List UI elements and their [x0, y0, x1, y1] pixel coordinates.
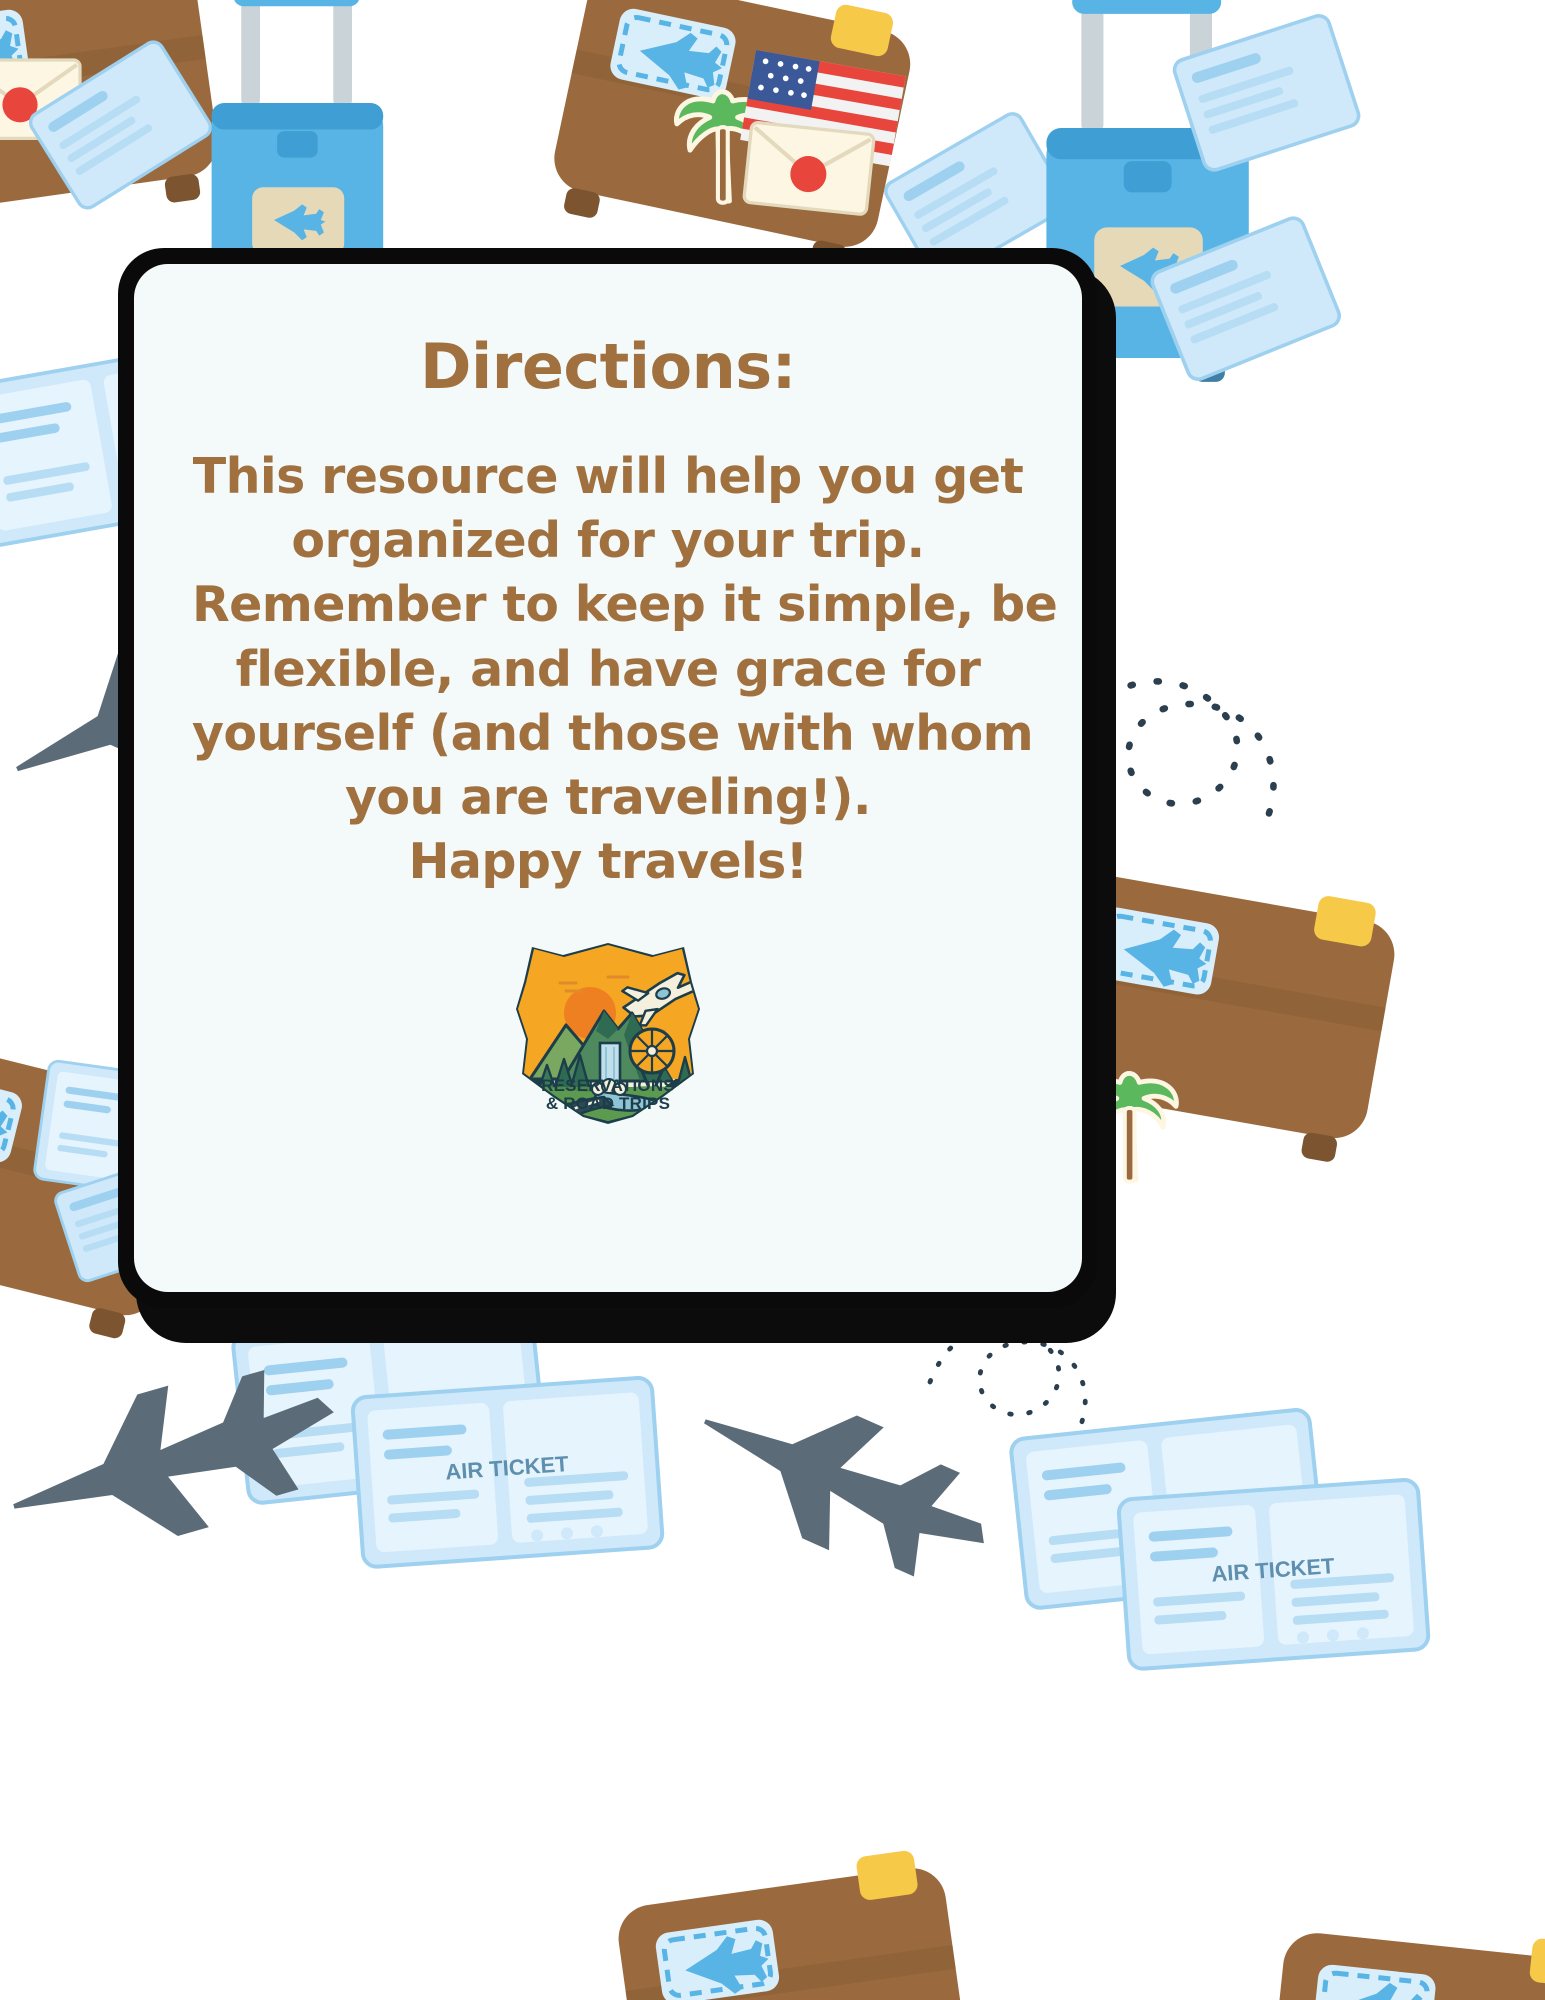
- tablet-screen: Directions: This resource will help you …: [134, 264, 1082, 1292]
- directions-line-2: organized for your trip.: [192, 509, 1024, 573]
- badge-label-line1: RESERVATIONS: [541, 1076, 675, 1095]
- directions-line-1: This resource will help you get: [192, 445, 1024, 509]
- directions-line-7: Happy travels!: [192, 830, 1024, 894]
- tablet-frame: Directions: This resource will help you …: [118, 248, 1098, 1308]
- directions-line-6: you are traveling!).: [192, 766, 1024, 830]
- tablet-device: Directions: This resource will help you …: [118, 248, 1098, 1323]
- badge-label-line2: & ROAD TRIPS: [546, 1094, 670, 1113]
- directions-line-3: Remember to keep it simple, be: [192, 573, 1024, 637]
- bg-ticket-bottomright2: AIR TICKET: [1118, 1479, 1429, 1670]
- bg-jpenvelope-topcenter: [744, 122, 875, 215]
- badge-label-band: RESERVATIONS & ROAD TRIPS: [541, 1076, 675, 1113]
- bg-ticket-bottomcenter: AIR TICKET: [352, 1377, 663, 1568]
- directions-line-4: flexible, and have grace for: [192, 638, 1024, 702]
- page-title: Directions:: [420, 334, 796, 399]
- brand-logo: RESERVATIONS & ROAD TRIPS: [508, 938, 708, 1128]
- directions-line-5: yourself (and those with whom: [192, 702, 1024, 766]
- poster-page: AIR TICKET AIR TICKET: [0, 0, 1545, 2000]
- reservations-road-trips-badge-icon: RESERVATIONS & ROAD TRIPS: [512, 939, 704, 1127]
- directions-text: This resource will help you get organize…: [192, 445, 1024, 894]
